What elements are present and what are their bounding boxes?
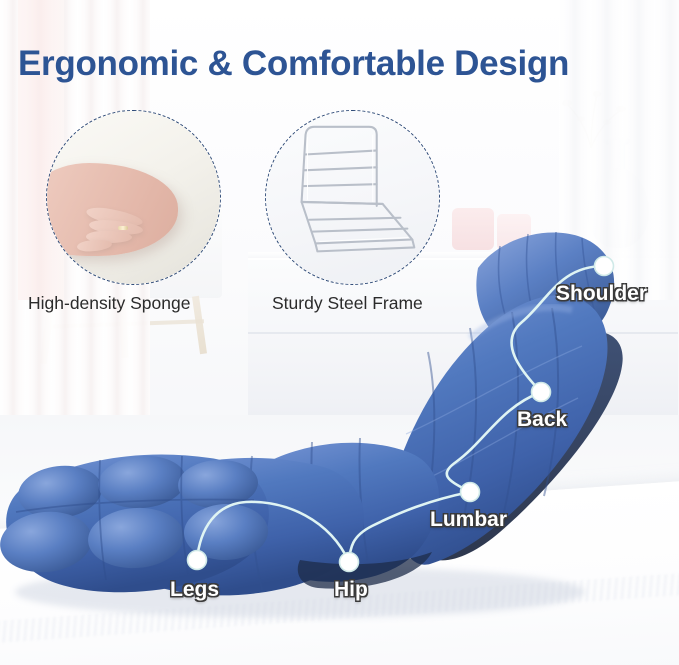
infographic-canvas: High-density Sponge (0, 0, 679, 665)
callout-label-shoulder: Shoulder (556, 282, 647, 306)
marker-hip[interactable] (340, 553, 359, 572)
ergonomic-callout-overlay (0, 0, 679, 665)
callout-label-back: Back (517, 408, 567, 432)
marker-shoulder[interactable] (595, 257, 614, 276)
marker-lumbar[interactable] (461, 483, 480, 502)
callout-label-lumbar: Lumbar (430, 508, 507, 532)
marker-back[interactable] (532, 383, 551, 402)
marker-legs[interactable] (188, 551, 207, 570)
callout-label-legs: Legs (170, 578, 219, 602)
page-title: Ergonomic & Comfortable Design (18, 44, 569, 84)
callout-label-hip: Hip (334, 578, 368, 602)
